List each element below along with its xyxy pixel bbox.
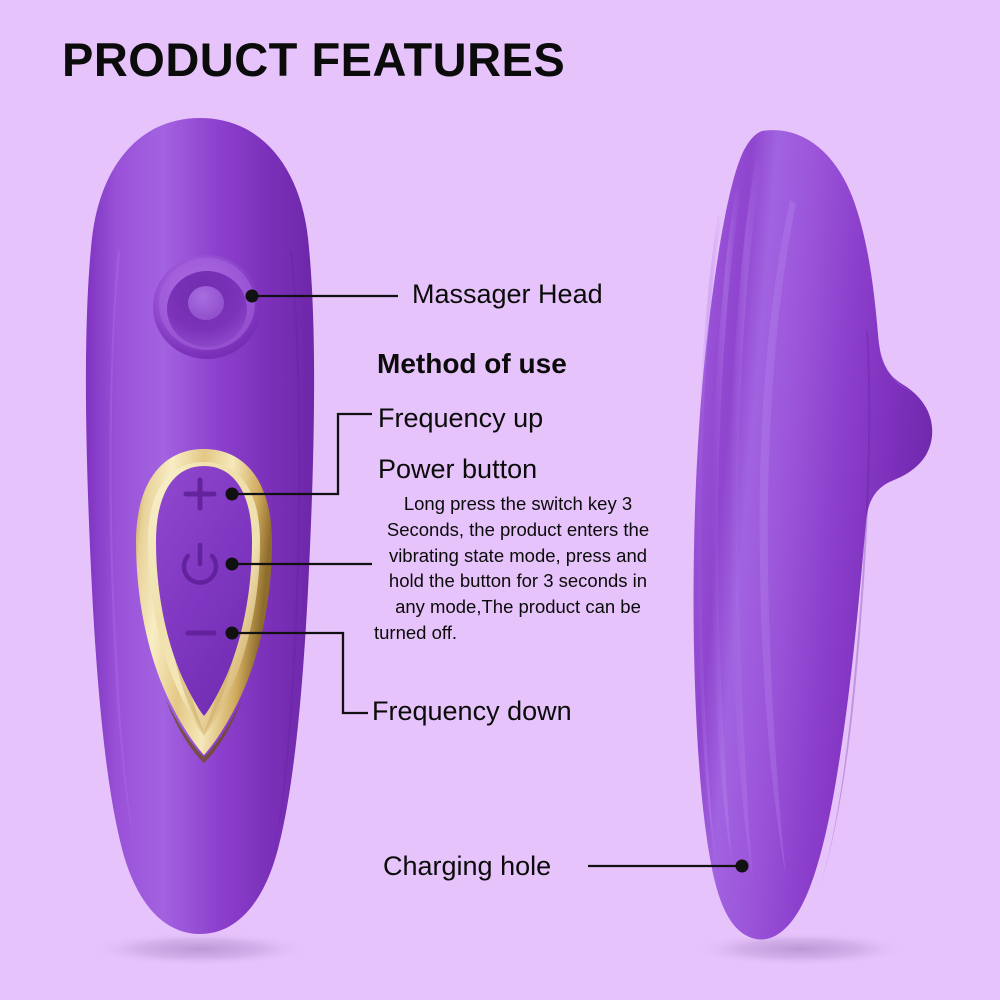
method-line: hold the button for 3 seconds in: [368, 568, 668, 594]
leader-dot-massager-head: [246, 290, 259, 303]
leader-dot-charging-hole: [736, 860, 749, 873]
device-front-view: [86, 118, 314, 934]
method-line: turned off.: [368, 620, 668, 646]
method-of-use-description: Long press the switch key 3 Seconds, the…: [368, 491, 668, 646]
label-massager-head: Massager Head: [412, 281, 603, 308]
device-side-view: [694, 130, 933, 939]
method-line: Seconds, the product enters the: [368, 517, 668, 543]
massager-head: [153, 255, 261, 359]
massager-head-nozzle: [188, 286, 224, 320]
method-line: Long press the switch key 3: [368, 491, 668, 517]
leader-dot-frequency-down: [226, 627, 239, 640]
product-features-diagram: PRODUCT FEATURES Massager Head Method of…: [0, 0, 1000, 1000]
method-line: any mode,The product can be: [368, 594, 668, 620]
label-charging-hole: Charging hole: [383, 853, 551, 880]
label-frequency-up: Frequency up: [378, 405, 543, 432]
page-title: PRODUCT FEATURES: [62, 36, 565, 83]
front-view-shadow: [87, 932, 313, 966]
label-frequency-down: Frequency down: [372, 698, 572, 725]
method-line: vibrating state mode, press and: [368, 543, 668, 569]
leader-dot-power-button: [226, 558, 239, 571]
side-view-shadow: [690, 932, 910, 966]
label-method-of-use: Method of use: [377, 350, 567, 378]
leader-dot-frequency-up: [226, 488, 239, 501]
label-power-button: Power button: [378, 456, 537, 483]
